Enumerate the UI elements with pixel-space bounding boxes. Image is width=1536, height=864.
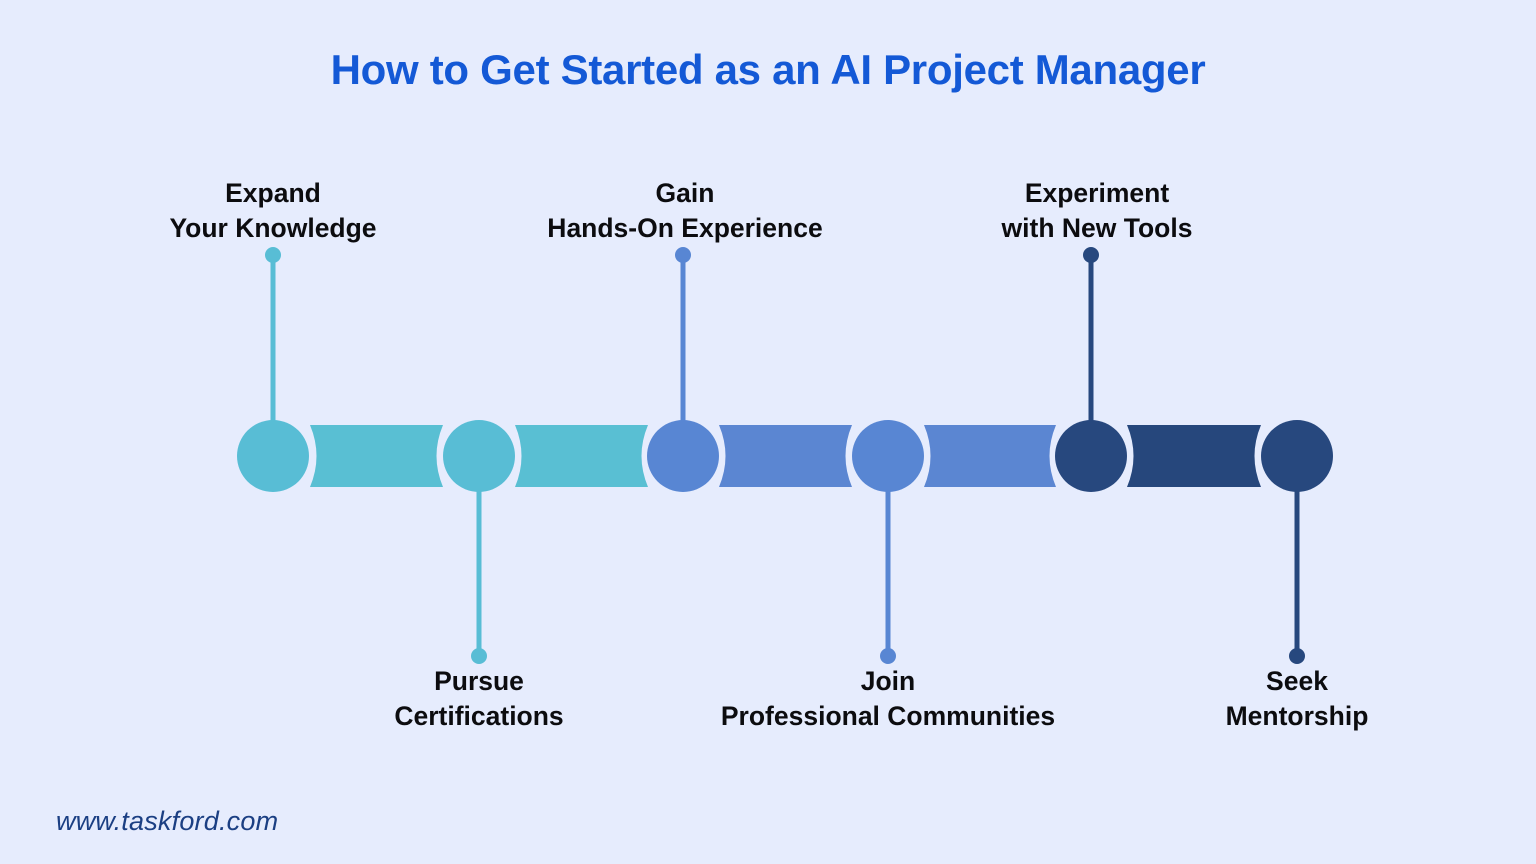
timeline-segment-2 [515, 425, 648, 487]
infographic-canvas: How to Get Started as an AI Project Mana… [0, 0, 1536, 864]
step-label-6-line1: Seek [1226, 664, 1369, 699]
footer-website-url[interactable]: www.taskford.com [56, 806, 278, 837]
step-label-4-line2: Professional Communities [721, 699, 1055, 734]
timeline-node-3[interactable] [647, 420, 719, 492]
timeline-node-2[interactable] [443, 420, 515, 492]
step-label-2: PursueCertifications [394, 664, 563, 734]
step-label-1-line2: Your Knowledge [169, 211, 376, 246]
step-label-3: GainHands-On Experience [547, 176, 822, 246]
step-label-5-line2: with New Tools [1002, 211, 1193, 246]
page-title: How to Get Started as an AI Project Mana… [0, 46, 1536, 94]
timeline-segment-4 [924, 425, 1056, 487]
step-label-3-line2: Hands-On Experience [547, 211, 822, 246]
step-label-6: SeekMentorship [1226, 664, 1369, 734]
step-label-4: JoinProfessional Communities [721, 664, 1055, 734]
timeline-segment-3 [719, 425, 852, 487]
step-label-3-line1: Gain [547, 176, 822, 211]
connector-dot-2 [471, 648, 487, 664]
step-label-5: Experimentwith New Tools [1002, 176, 1193, 246]
connector-dot-3 [675, 247, 691, 263]
connector-dot-1 [265, 247, 281, 263]
step-label-2-line1: Pursue [394, 664, 563, 699]
timeline-segment-1 [310, 425, 443, 487]
step-label-1-line1: Expand [169, 176, 376, 211]
connector-dot-5 [1083, 247, 1099, 263]
connector-dot-4 [880, 648, 896, 664]
step-label-1: ExpandYour Knowledge [169, 176, 376, 246]
timeline-node-6[interactable] [1261, 420, 1333, 492]
connector-dot-6 [1289, 648, 1305, 664]
step-label-2-line2: Certifications [394, 699, 563, 734]
timeline-node-4[interactable] [852, 420, 924, 492]
step-label-4-line1: Join [721, 664, 1055, 699]
step-label-5-line1: Experiment [1002, 176, 1193, 211]
timeline-node-1[interactable] [237, 420, 309, 492]
timeline-node-5[interactable] [1055, 420, 1127, 492]
step-label-6-line2: Mentorship [1226, 699, 1369, 734]
timeline-segment-5 [1127, 425, 1261, 487]
